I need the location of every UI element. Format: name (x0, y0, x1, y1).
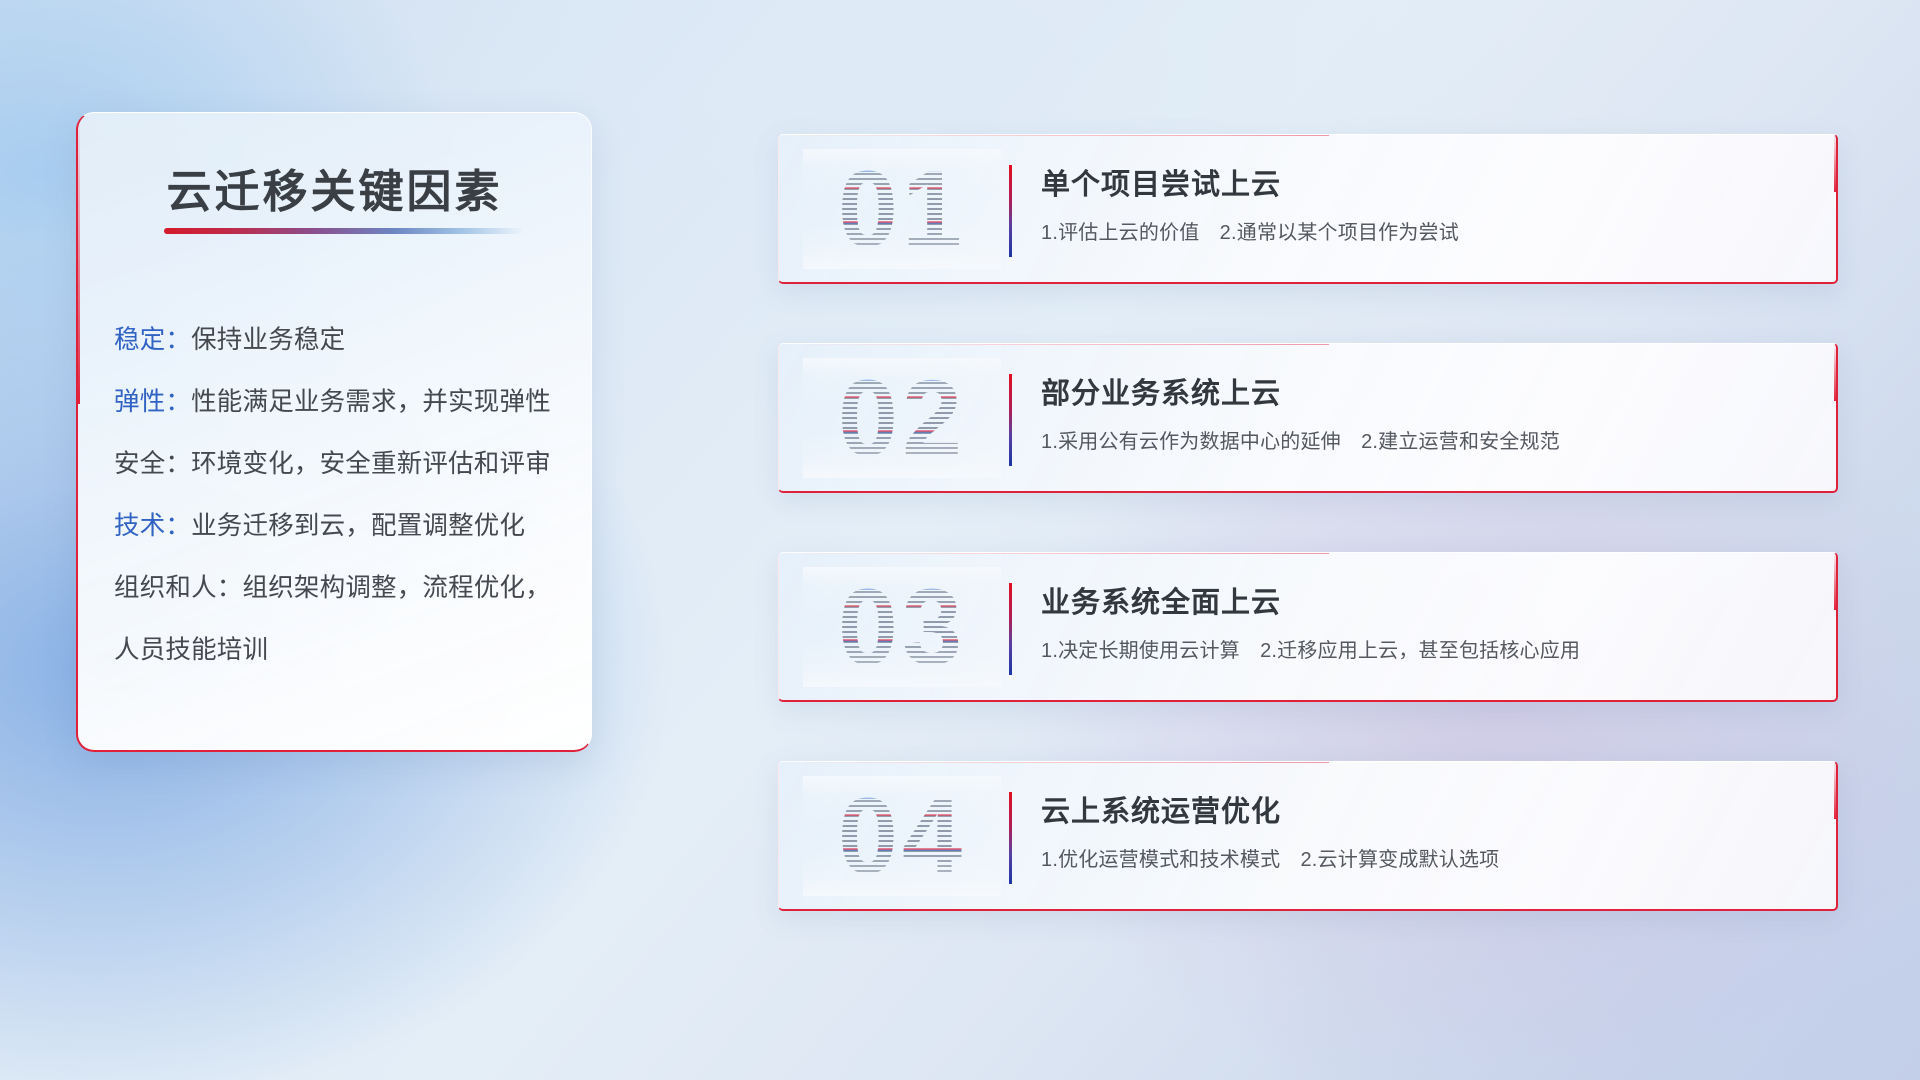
stage-card-body: 云上系统运营优化 1.优化运营模式和技术模式 2.云计算变成默认选项 (1041, 788, 1812, 872)
stage-number-graphic: 02 02 (807, 362, 997, 474)
stage-number-text: 01 (807, 153, 997, 265)
stage-number-tint: 01 (807, 153, 997, 265)
factor-label: 安全： (114, 450, 191, 478)
stage-number-fade-overlay (803, 358, 1001, 478)
stage-divider-bar (1009, 374, 1012, 466)
factor-text: 组织架构调整，流程优化， (243, 574, 551, 602)
key-factors-panel: 云迁移关键因素 稳定：保持业务稳定 弹性：性能满足业务需求，并实现弹性 安全：环… (76, 112, 592, 752)
stage-title: 业务系统全面上云 (1041, 579, 1812, 621)
stage-number-graphic: 03 03 (807, 571, 997, 683)
stage-subtitle: 1.优化运营模式和技术模式 2.云计算变成默认选项 (1041, 843, 1812, 872)
factor-text: 环境变化，安全重新评估和评审 (191, 450, 551, 478)
stage-number-tint: 03 (807, 571, 997, 683)
stage-title: 部分业务系统上云 (1041, 370, 1812, 412)
stage-card-list: 01 01 单个项目尝试上云 1.评估上云的价值 2.通常以某个项目作为尝试 0… (778, 134, 1838, 911)
factor-row: 弹性：性能满足业务需求，并实现弹性 (114, 371, 569, 433)
factor-list: 稳定：保持业务稳定 弹性：性能满足业务需求，并实现弹性 安全：环境变化，安全重新… (114, 309, 569, 681)
stage-number-text: 04 (807, 780, 997, 892)
stage-number-fade-overlay (803, 567, 1001, 687)
factor-text: 人员技能培训 (114, 636, 268, 664)
stage-divider-bar (1009, 583, 1012, 675)
stage-number-graphic: 04 04 (807, 780, 997, 892)
stage-number-fade-overlay (803, 149, 1001, 269)
factor-text: 业务迁移到云，配置调整优化 (191, 512, 525, 540)
stage-number-text: 02 (807, 362, 997, 474)
stage-number-tint: 04 (807, 780, 997, 892)
factor-text: 性能满足业务需求，并实现弹性 (191, 388, 551, 416)
stage-number-tint: 02 (807, 362, 997, 474)
stage-divider-bar (1009, 165, 1012, 257)
stage-card[interactable]: 01 01 单个项目尝试上云 1.评估上云的价值 2.通常以某个项目作为尝试 (778, 134, 1838, 284)
stage-title: 云上系统运营优化 (1041, 788, 1812, 830)
factor-text: 保持业务稳定 (191, 326, 345, 354)
stage-card[interactable]: 04 04 云上系统运营优化 1.优化运营模式和技术模式 2.云计算变成默认选项 (778, 761, 1838, 911)
stage-card[interactable]: 03 03 业务系统全面上云 1.决定长期使用云计算 2.迁移应用上云，甚至包括… (778, 552, 1838, 702)
stage-card-body: 单个项目尝试上云 1.评估上云的价值 2.通常以某个项目作为尝试 (1041, 161, 1812, 245)
factor-row: 技术：业务迁移到云，配置调整优化 (114, 495, 569, 557)
page-title: 云迁移关键因素 (78, 155, 591, 220)
factor-row: 人员技能培训 (114, 619, 569, 681)
stage-number-graphic: 01 01 (807, 153, 997, 265)
stage-subtitle: 1.决定长期使用云计算 2.迁移应用上云，甚至包括核心应用 (1041, 634, 1812, 663)
stage-card[interactable]: 02 02 部分业务系统上云 1.采用公有云作为数据中心的延伸 2.建立运营和安… (778, 343, 1838, 493)
stage-number-fade-overlay (803, 776, 1001, 896)
factor-row: 稳定：保持业务稳定 (114, 309, 569, 371)
title-underline-rule (164, 228, 524, 234)
factor-label: 技术： (114, 512, 191, 540)
stage-card-body: 业务系统全面上云 1.决定长期使用云计算 2.迁移应用上云，甚至包括核心应用 (1041, 579, 1812, 663)
stage-card-body: 部分业务系统上云 1.采用公有云作为数据中心的延伸 2.建立运营和安全规范 (1041, 370, 1812, 454)
factor-label: 弹性： (114, 388, 191, 416)
stage-number-text: 03 (807, 571, 997, 683)
factor-label: 稳定： (114, 326, 191, 354)
slide-canvas: 云迁移关键因素 稳定：保持业务稳定 弹性：性能满足业务需求，并实现弹性 安全：环… (0, 0, 1920, 1080)
stage-divider-bar (1009, 792, 1012, 884)
factor-row: 安全：环境变化，安全重新评估和评审 (114, 433, 569, 495)
stage-title: 单个项目尝试上云 (1041, 161, 1812, 203)
stage-subtitle: 1.采用公有云作为数据中心的延伸 2.建立运营和安全规范 (1041, 425, 1812, 454)
factor-row: 组织和人：组织架构调整，流程优化， (114, 557, 569, 619)
stage-subtitle: 1.评估上云的价值 2.通常以某个项目作为尝试 (1041, 216, 1812, 245)
factor-label: 组织和人： (114, 574, 243, 602)
